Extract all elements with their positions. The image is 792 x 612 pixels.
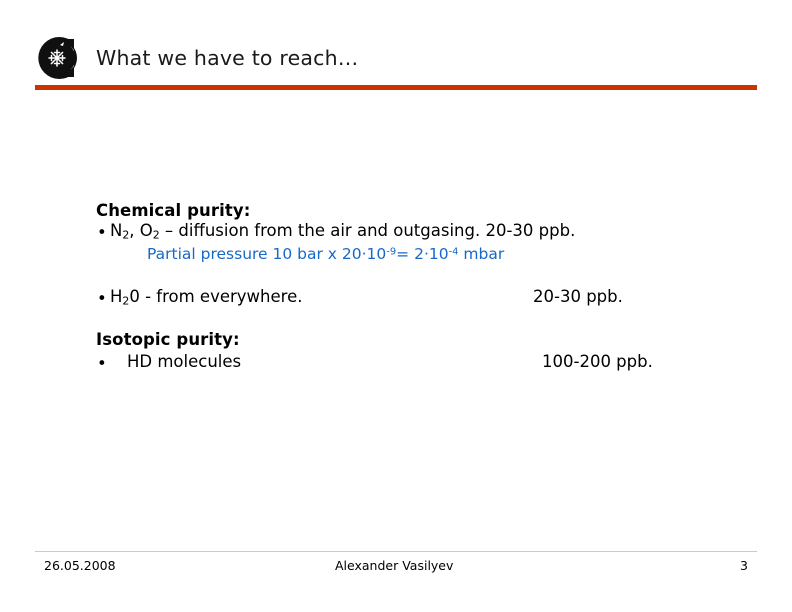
subscript-2b: 2 <box>153 229 160 242</box>
list-item-h2o: H20 - from everywhere. <box>110 287 302 308</box>
note-part-c: mbar <box>459 245 505 263</box>
note-sup-b: -4 <box>449 246 459 257</box>
text-zero: 0 <box>129 287 140 306</box>
text-diffusion: – diffusion from the air and outgasing. … <box>160 221 576 240</box>
note-sup-a: -9 <box>386 246 396 257</box>
text-from-everywhere: - from everywhere. <box>140 287 303 306</box>
value-hd-ppb: 100-200 ppb. <box>542 352 653 371</box>
footer-date: 26.05.2008 <box>44 558 116 573</box>
bullet-marker: • <box>97 225 107 242</box>
bullet-marker: • <box>97 291 107 308</box>
list-item-n2-o2: N2, O2 – diffusion from the air and outg… <box>110 221 575 242</box>
heading-chemical-purity: Chemical purity: <box>96 201 250 220</box>
note-part-a: Partial pressure 10 bar x 20·10 <box>147 245 386 263</box>
value-h2o-ppb: 20-30 ppb. <box>533 287 623 306</box>
slide-content: Chemical purity: • N2, O2 – diffusion fr… <box>0 0 792 612</box>
footer-author: Alexander Vasilyev <box>335 558 453 573</box>
note-partial-pressure: Partial pressure 10 bar x 20·10-9= 2·10-… <box>147 245 504 263</box>
list-item-hd-molecules: HD molecules <box>127 352 241 371</box>
footer-page-number: 3 <box>740 558 748 573</box>
note-part-b: = 2·10 <box>396 245 448 263</box>
footer-divider <box>35 551 757 552</box>
text-n: N <box>110 221 122 240</box>
text-o: , O <box>129 221 152 240</box>
slide: What we have to reach… Chemical purity: … <box>0 0 792 612</box>
bullet-marker: • <box>97 356 107 373</box>
heading-isotopic-purity: Isotopic purity: <box>96 330 240 349</box>
text-h: H <box>110 287 122 306</box>
